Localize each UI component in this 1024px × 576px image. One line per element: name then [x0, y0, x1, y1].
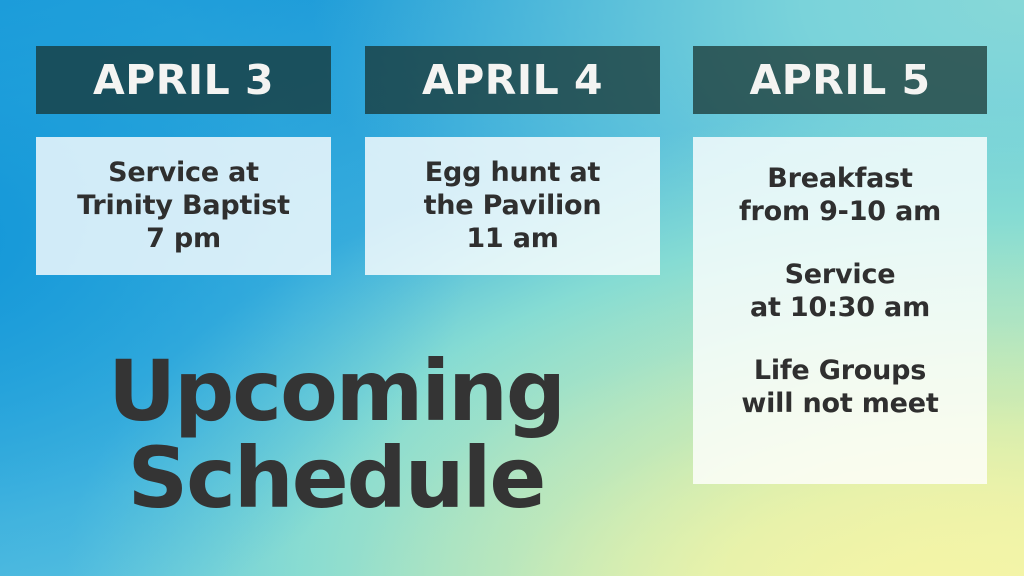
- date-label: APRIL 5: [749, 60, 930, 101]
- event-card-april-3: Service at Trinity Baptist 7 pm: [36, 137, 331, 275]
- event-card-april-5: Breakfast from 9-10 am Service at 10:30 …: [693, 137, 987, 484]
- page-title-line-2: Schedule: [36, 435, 636, 522]
- page-title-line-1: Upcoming: [36, 348, 636, 435]
- event-text: Service at 10:30 am: [707, 259, 973, 325]
- date-label: APRIL 3: [93, 60, 274, 101]
- event-text: Service at Trinity Baptist 7 pm: [50, 157, 317, 256]
- event-text: Breakfast from 9-10 am: [707, 163, 973, 229]
- page-title: Upcoming Schedule: [36, 348, 636, 521]
- event-card-april-4: Egg hunt at the Pavilion 11 am: [365, 137, 660, 275]
- date-header-april-3: APRIL 3: [36, 46, 331, 114]
- date-header-april-5: APRIL 5: [693, 46, 987, 114]
- event-text: Egg hunt at the Pavilion 11 am: [379, 157, 646, 256]
- schedule-column-april-3: APRIL 3 Service at Trinity Baptist 7 pm: [36, 46, 331, 275]
- event-text: Life Groups will not meet: [707, 355, 973, 421]
- date-header-april-4: APRIL 4: [365, 46, 660, 114]
- date-label: APRIL 4: [422, 60, 603, 101]
- schedule-column-april-4: APRIL 4 Egg hunt at the Pavilion 11 am: [365, 46, 660, 275]
- schedule-column-april-5: APRIL 5 Breakfast from 9-10 am Service a…: [693, 46, 987, 484]
- schedule-slide: APRIL 3 Service at Trinity Baptist 7 pm …: [0, 0, 1024, 576]
